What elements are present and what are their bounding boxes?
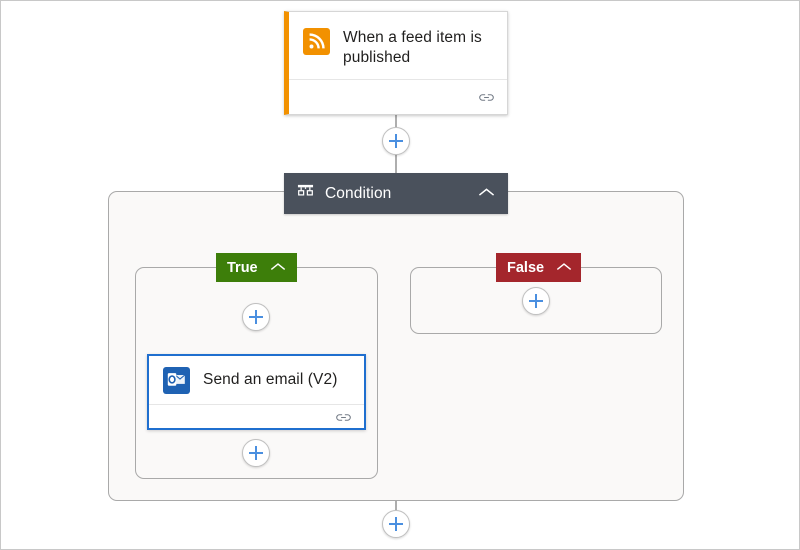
send-email-title: Send an email (V2) xyxy=(203,370,337,390)
add-step-true-top-button[interactable] xyxy=(242,303,270,331)
condition-header[interactable]: Condition xyxy=(284,173,508,214)
trigger-card[interactable]: When a feed item is published xyxy=(284,11,508,115)
send-email-card[interactable]: Send an email (V2) xyxy=(147,354,366,430)
add-step-false-button[interactable] xyxy=(522,287,550,315)
send-email-card-footer xyxy=(149,404,364,429)
link-icon[interactable] xyxy=(335,411,352,424)
link-icon[interactable] xyxy=(478,91,495,104)
condition-icon xyxy=(297,183,314,205)
trigger-title: When a feed item is published xyxy=(343,28,493,68)
chevron-up-icon[interactable] xyxy=(556,260,572,276)
true-branch-text: True xyxy=(227,260,258,276)
condition-label: Condition xyxy=(325,185,478,203)
false-branch-label[interactable]: False xyxy=(496,253,581,282)
add-step-true-bottom-button[interactable] xyxy=(242,439,270,467)
chevron-up-icon[interactable] xyxy=(270,260,286,276)
chevron-up-icon[interactable] xyxy=(478,185,495,203)
flow-designer-canvas: When a feed item is published Condition xyxy=(0,0,800,550)
true-branch-label[interactable]: True xyxy=(216,253,297,282)
trigger-card-header: When a feed item is published xyxy=(289,12,507,79)
add-step-after-trigger-button[interactable] xyxy=(382,127,410,155)
send-email-card-header: Send an email (V2) xyxy=(149,356,364,404)
rss-icon xyxy=(303,28,330,55)
false-branch-text: False xyxy=(507,260,544,276)
outlook-icon xyxy=(163,367,190,394)
trigger-card-footer xyxy=(289,79,507,115)
add-step-after-condition-button[interactable] xyxy=(382,510,410,538)
